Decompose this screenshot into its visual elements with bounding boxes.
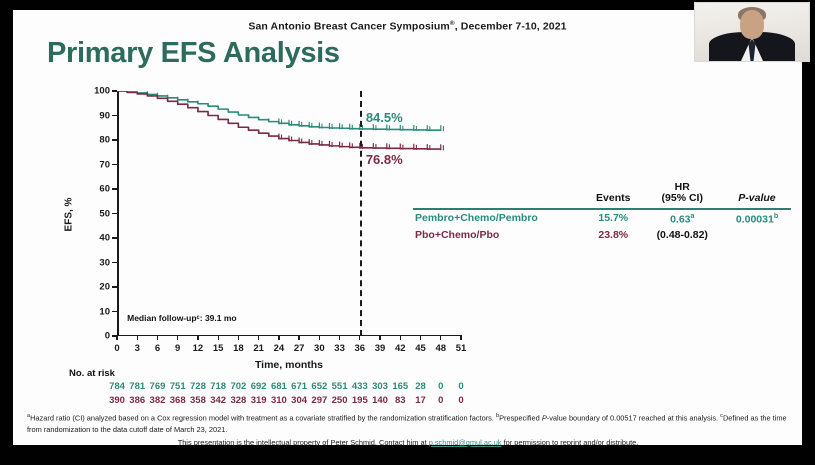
no-at-risk-value: 17	[415, 395, 426, 406]
x-tick-label: 12	[193, 343, 204, 354]
no-at-risk-value: 165	[392, 381, 408, 392]
footnote-text-b-pre: Prespecified	[499, 413, 542, 422]
no-at-risk-value: 718	[210, 381, 226, 392]
no-at-risk-value: 342	[210, 395, 226, 406]
results-row-events-pembro: 15.7%	[585, 209, 642, 227]
no-at-risk-value: 702	[230, 381, 246, 392]
no-at-risk-value: 250	[332, 395, 348, 406]
no-at-risk-value: 195	[352, 395, 368, 406]
no-at-risk-value: 319	[251, 395, 267, 406]
no-at-risk-value: 0	[458, 395, 463, 406]
y-axis-title: EFS, %	[64, 198, 75, 232]
no-at-risk-value: 0	[438, 381, 443, 392]
no-at-risk-title: No. at risk	[69, 368, 769, 379]
results-row-label-pembro: Pembro+Chemo/Pembro	[413, 209, 585, 227]
hr-value: 0.63	[670, 213, 690, 225]
no-at-risk-value: 769	[150, 381, 166, 392]
no-at-risk-value: 328	[230, 395, 246, 406]
y-tick-label: 50	[99, 208, 110, 219]
y-tick-label: 40	[99, 233, 110, 244]
conference-header-date: , December 7-10, 2021	[455, 21, 567, 33]
no-at-risk-value: 692	[251, 381, 267, 392]
no-at-risk-value: 784	[109, 381, 125, 392]
results-row-label-pbo: Pbo+Chemo/Pbo	[413, 227, 585, 243]
property-notice-pre: This presentation is the intellectual pr…	[178, 438, 429, 447]
x-tick-label: 36	[355, 343, 366, 354]
x-tick-label: 21	[253, 343, 264, 354]
x-tick-label: 39	[375, 343, 386, 354]
conference-header-name: San Antonio Breast Cancer Symposium	[248, 21, 450, 33]
no-at-risk-value: 781	[129, 381, 145, 392]
results-header-hr-line2: (95% CI)	[644, 193, 721, 204]
table-row: Pbo+Chemo/Pbo 23.8% (0.48-0.82)	[413, 227, 791, 243]
kaplan-meier-chart: EFS, % 0102030405060708090100 0369121518…	[117, 91, 461, 336]
no-at-risk-value: 304	[291, 395, 307, 406]
x-tick-label: 9	[175, 343, 180, 354]
y-tick-label: 90	[99, 110, 110, 121]
x-tick-label: 15	[213, 343, 224, 354]
annotation-76.8pct: 76.8%	[366, 152, 403, 167]
pvalue-footnote-marker: b	[774, 213, 778, 220]
results-header-hr: HR (95% CI)	[642, 182, 723, 209]
property-notice-post: for permission to reprint and/or distrib…	[502, 438, 639, 447]
conference-header: San Antonio Breast Cancer Symposium®, De…	[13, 20, 802, 33]
y-tick-label: 70	[99, 159, 110, 170]
no-at-risk-value: 386	[129, 395, 145, 406]
x-tick-label: 3	[135, 343, 140, 354]
results-row-hr-pembro: 0.63a	[642, 209, 723, 227]
results-row-pvalue-pbo	[723, 227, 791, 243]
presenter-face	[740, 10, 764, 39]
x-tick-label: 0	[114, 343, 119, 354]
x-tick-label: 33	[334, 343, 345, 354]
results-row-events-pbo: 23.8%	[585, 227, 642, 243]
footnote-text-a: Hazard ratio (CI) analyzed based on a Co…	[30, 413, 496, 422]
y-tick-label: 80	[99, 135, 110, 146]
x-tick-label: 18	[233, 343, 244, 354]
page-title: Primary EFS Analysis	[47, 37, 340, 70]
results-header-blank	[413, 182, 585, 209]
no-at-risk-value: 681	[271, 381, 287, 392]
hr-results-table: Events HR (95% CI) P-value Pembro+Chemo/…	[413, 182, 791, 242]
reference-line-36mo	[360, 91, 362, 336]
no-at-risk-value: 297	[311, 395, 327, 406]
no-at-risk-value: 652	[311, 381, 327, 392]
contact-email-link[interactable]: p.schmid@qmul.ac.uk	[429, 438, 502, 447]
no-at-risk-value: 358	[190, 395, 206, 406]
results-header-pvalue-text: P-value	[738, 192, 775, 204]
y-tick-label: 20	[99, 282, 110, 293]
annotation-84.5pct: 84.5%	[366, 110, 403, 125]
x-tick-label: 42	[395, 343, 406, 354]
no-at-risk-value: 0	[458, 381, 463, 392]
results-header-pvalue: P-value	[723, 182, 791, 209]
no-at-risk-row-pbo: 3903863823683583423283193103042972501951…	[69, 395, 769, 409]
no-at-risk-value: 382	[150, 395, 166, 406]
x-tick-label: 6	[155, 343, 160, 354]
property-notice: This presentation is the intellectual pr…	[27, 438, 789, 447]
x-tick-label: 27	[294, 343, 305, 354]
median-followup-note: Median follow-upᶜ: 39.1 mo	[127, 313, 236, 323]
presenter-video-thumbnail[interactable]	[694, 2, 810, 62]
no-at-risk-value: 671	[291, 381, 307, 392]
y-tick-label: 30	[99, 257, 110, 268]
footnote-text-b-post: -value boundary of 0.00517 reached at th…	[547, 413, 720, 422]
no-at-risk-value: 728	[190, 381, 206, 392]
no-at-risk-value: 83	[395, 395, 406, 406]
x-tick-label: 51	[456, 343, 467, 354]
table-row: Pembro+Chemo/Pembro 15.7% 0.63a 0.00031b	[413, 209, 791, 227]
results-row-ci: (0.48-0.82)	[642, 227, 723, 243]
y-tick-label: 10	[99, 306, 110, 317]
no-at-risk-value: 28	[415, 381, 426, 392]
pvalue-value: 0.00031	[736, 213, 774, 225]
y-tick-label: 60	[99, 184, 110, 195]
x-tick-label: 24	[274, 343, 285, 354]
video-player-stage: San Antonio Breast Cancer Symposium®, De…	[0, 0, 815, 465]
no-at-risk-value: 0	[438, 395, 443, 406]
no-at-risk-value: 751	[170, 381, 186, 392]
survival-curves	[117, 91, 461, 336]
y-tick-label: 0	[105, 331, 110, 342]
presentation-slide: San Antonio Breast Cancer Symposium®, De…	[13, 10, 802, 445]
x-tick-label: 48	[435, 343, 446, 354]
y-tick-label: 100	[94, 86, 110, 97]
results-header-events: Events	[585, 182, 642, 209]
no-at-risk-table: No. at risk 7847817697517287187026926816…	[69, 368, 769, 409]
no-at-risk-value: 140	[372, 395, 388, 406]
no-at-risk-value: 433	[352, 381, 368, 392]
no-at-risk-value: 303	[372, 381, 388, 392]
no-at-risk-value: 390	[109, 395, 125, 406]
footnotes: aHazard ratio (CI) analyzed based on a C…	[27, 412, 789, 435]
hr-footnote-marker: a	[691, 213, 695, 220]
no-at-risk-value: 310	[271, 395, 287, 406]
no-at-risk-value: 551	[332, 381, 348, 392]
no-at-risk-value: 368	[170, 395, 186, 406]
x-tick-label: 45	[415, 343, 426, 354]
x-tick-label: 30	[314, 343, 325, 354]
no-at-risk-row-pembro: 7847817697517287187026926816716525514333…	[69, 381, 769, 395]
results-row-pvalue-pembro: 0.00031b	[723, 209, 791, 227]
